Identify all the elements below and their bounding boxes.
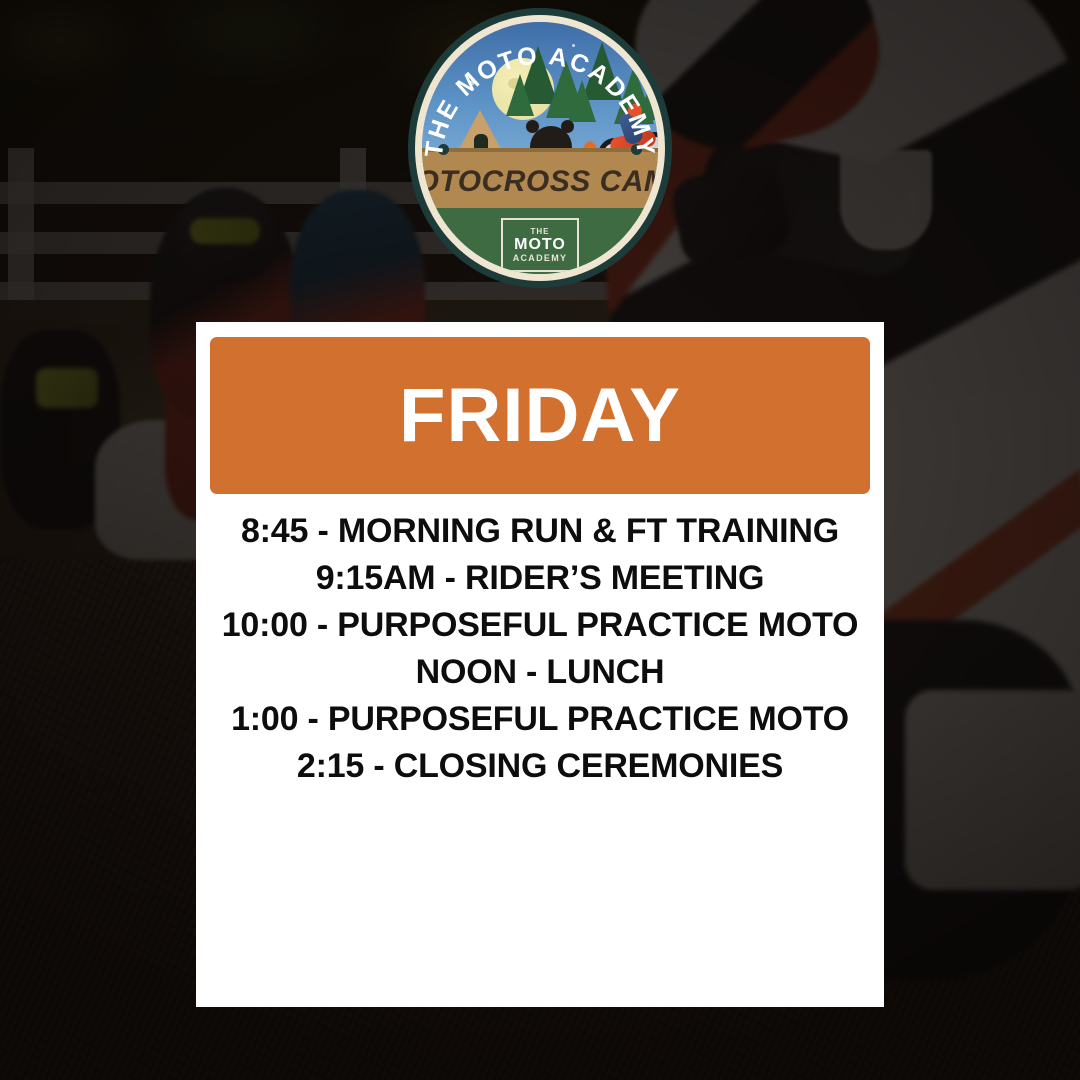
schedule-item: 8:45 - MORNING RUN & FT TRAINING [200, 508, 880, 555]
svg-text:THE MOTO ACADEMY: THE MOTO ACADEMY [422, 42, 658, 159]
badge-arc-text: THE MOTO ACADEMY [422, 22, 658, 274]
day-title: FRIDAY [399, 378, 681, 454]
moto-academy-badge-logo: MOTOCROSS CAMP THE MOTO ACADEMY THE MOTO… [408, 8, 672, 288]
schedule-item: NOON - LUNCH [200, 649, 880, 696]
day-banner: FRIDAY [210, 337, 870, 494]
schedule-item: 2:15 - CLOSING CEREMONIES [200, 743, 880, 790]
schedule-item: 1:00 - PURPOSEFUL PRACTICE MOTO [200, 696, 880, 743]
schedule-item: 10:00 - PURPOSEFUL PRACTICE MOTO [200, 602, 880, 649]
schedule-list: 8:45 - MORNING RUN & FT TRAINING 9:15AM … [200, 508, 880, 790]
poster-canvas: MOTOCROSS CAMP THE MOTO ACADEMY THE MOTO… [0, 0, 1080, 1080]
badge-arc-textpath: THE MOTO ACADEMY [422, 42, 658, 159]
schedule-card: FRIDAY 8:45 - MORNING RUN & FT TRAINING … [196, 322, 884, 1007]
badge-face: MOTOCROSS CAMP THE MOTO ACADEMY THE MOTO… [422, 22, 658, 274]
schedule-item: 9:15AM - RIDER’S MEETING [200, 555, 880, 602]
